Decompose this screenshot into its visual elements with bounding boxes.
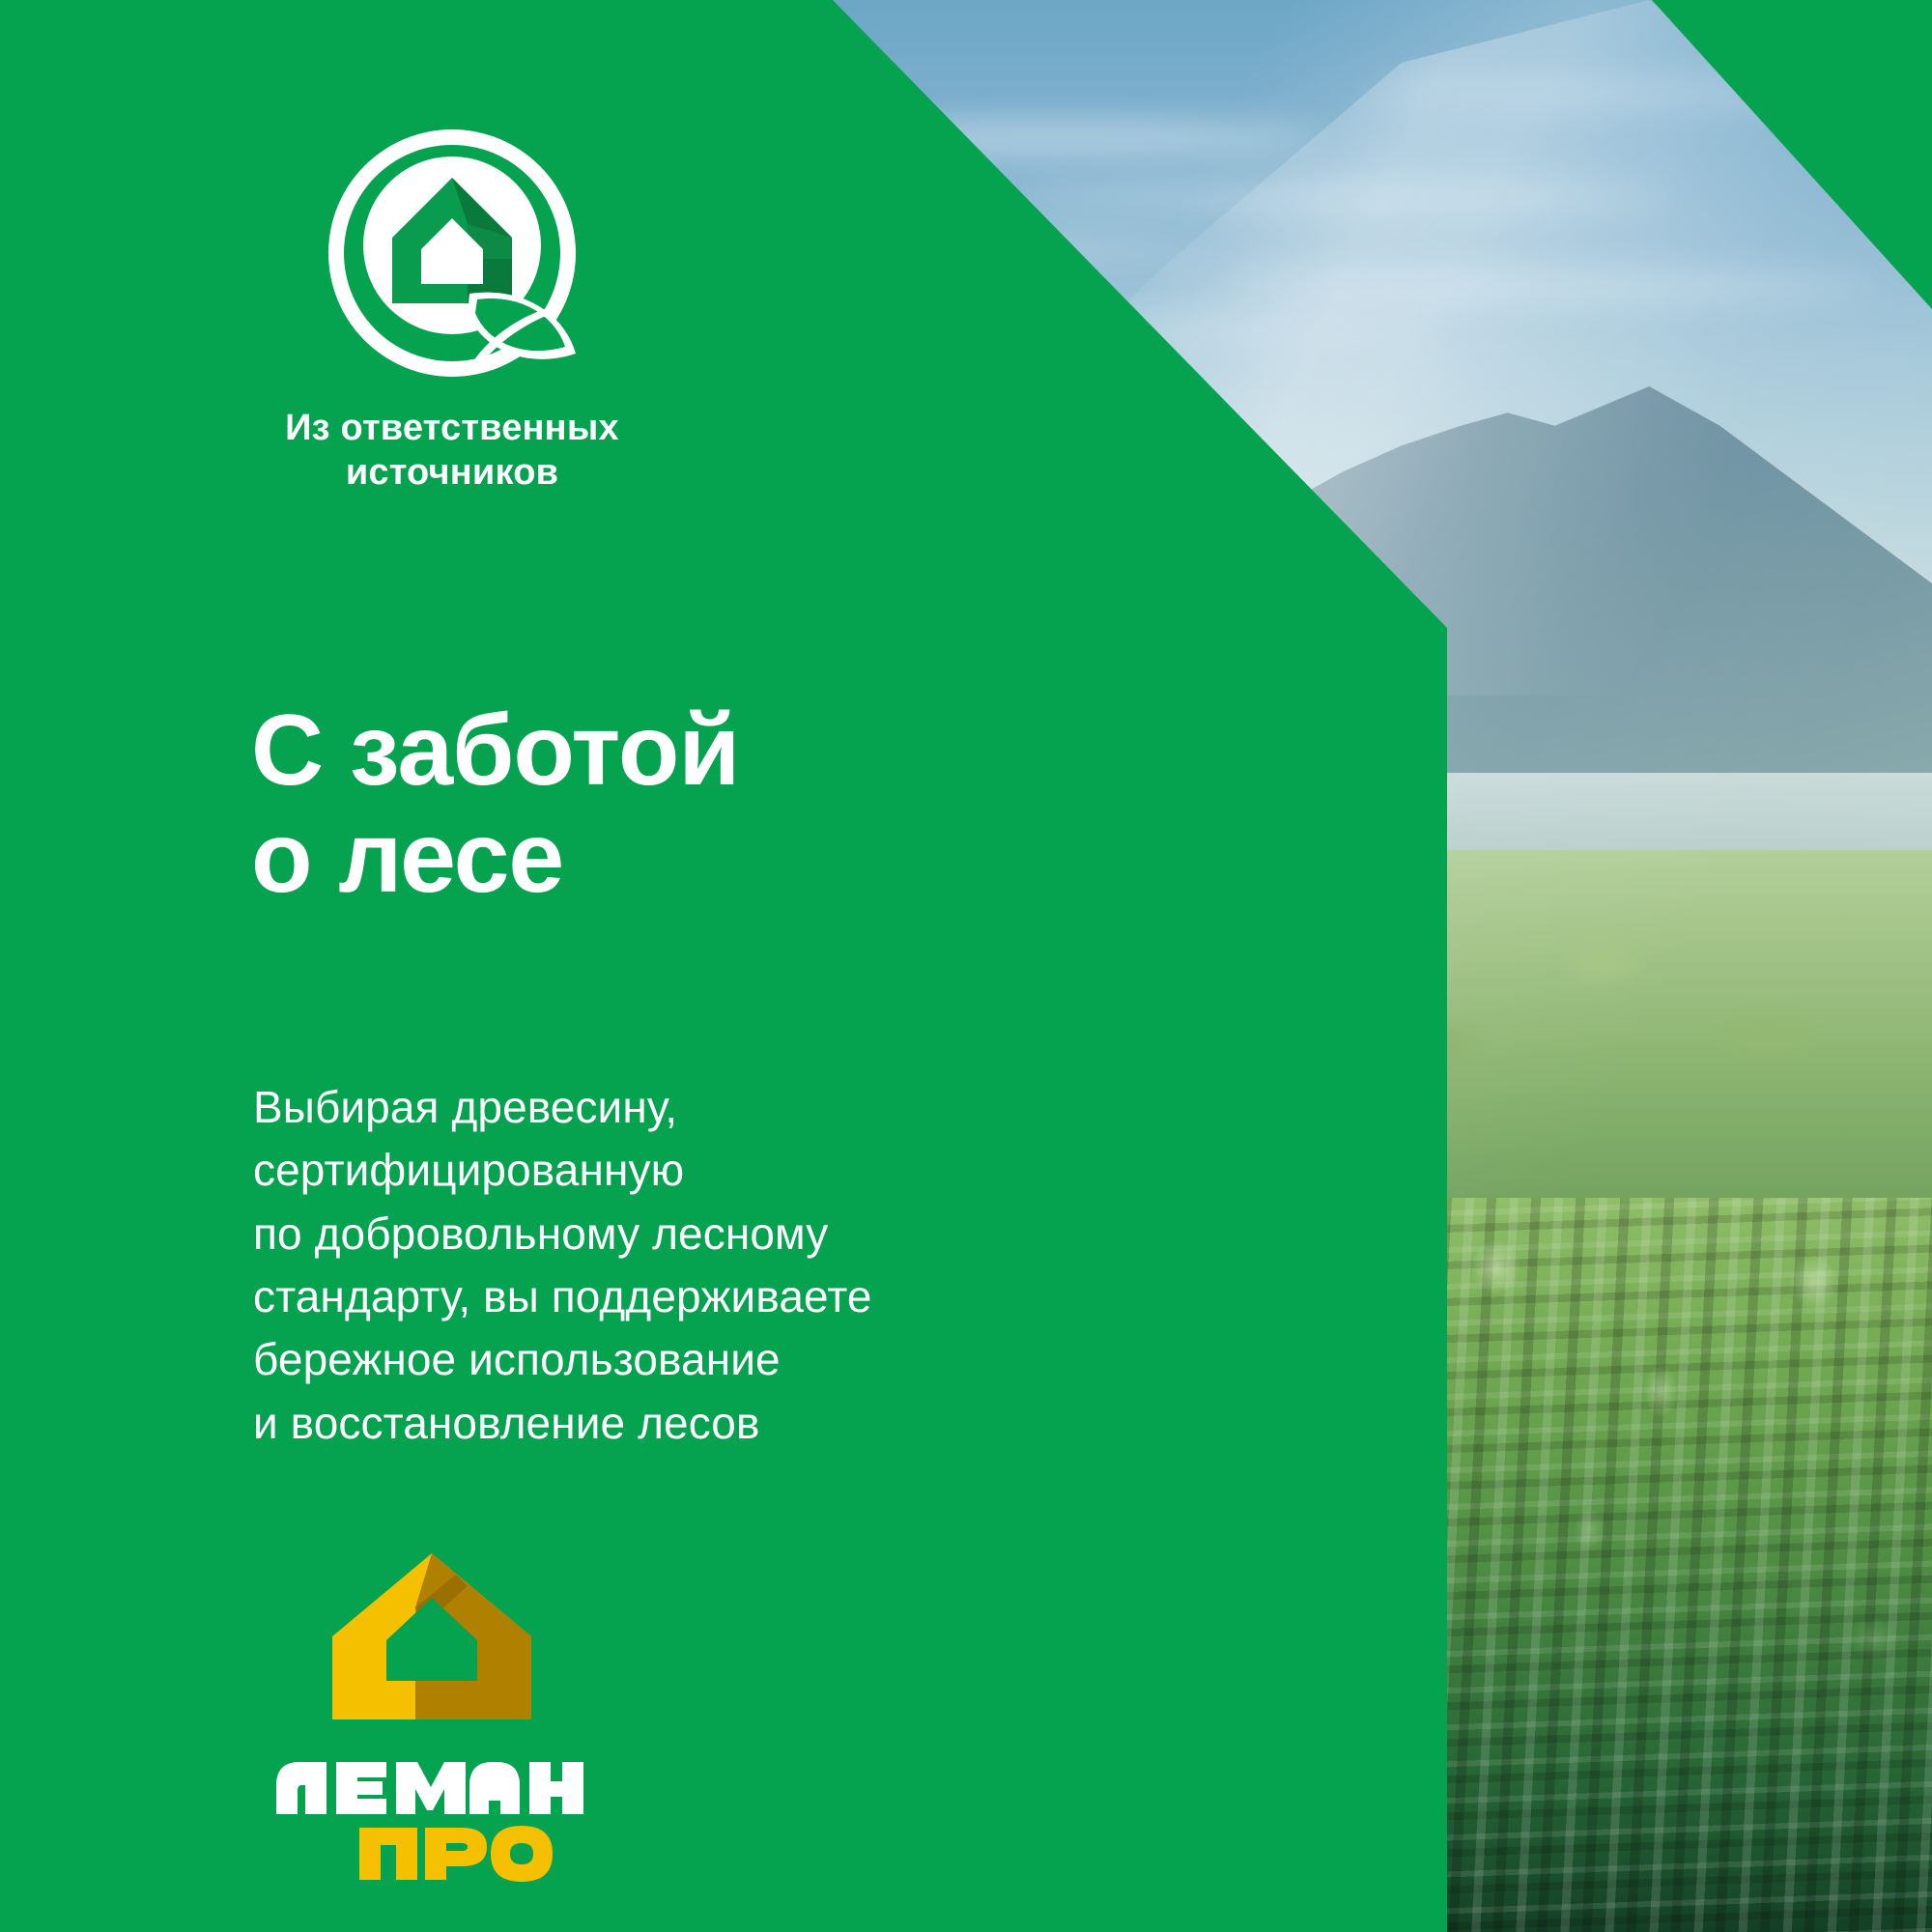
page-title: С заботой о лесе (251, 697, 739, 913)
body-paragraph: Выбирая древесину, сертифицированную по … (253, 1076, 872, 1455)
lemana-house-icon (332, 1553, 531, 1719)
responsible-sources-caption: Из ответственных источников (249, 406, 655, 496)
poster-content: Из ответственных источников С заботой о … (0, 0, 1932, 1932)
lemana-word (276, 1762, 583, 1814)
lemana-pro-wordmark (272, 1741, 591, 1886)
responsible-sources-badge: Из ответственных источников (249, 124, 655, 496)
responsible-sources-seal-icon (323, 124, 582, 383)
pro-word (359, 1826, 553, 1882)
poster-canvas: Из ответственных источников С заботой о … (0, 0, 1932, 1932)
brand-lockup (263, 1553, 601, 1886)
